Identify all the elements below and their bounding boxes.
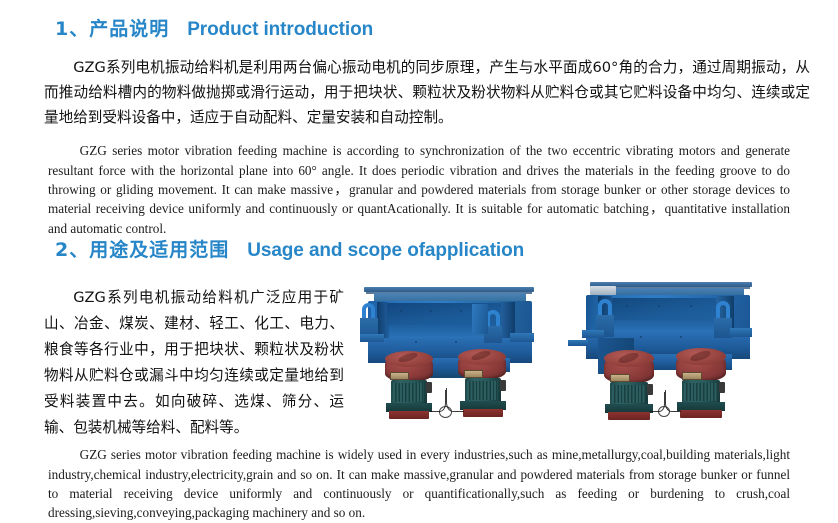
usage-and-scope-body-chinese: GZG系列电机振动给料机广泛应用于矿山、冶金、煤炭、建材、轻工、化工、电力、粮食…	[44, 285, 344, 441]
section-heading-en: Product introduction	[187, 19, 373, 41]
figure-gzg-vibration-feeder-front-view	[360, 270, 548, 428]
section-heading-en: Usage and scope ofapplication	[247, 240, 524, 262]
section-heading-usage-and-scope: 2、用途及适用范围 Usage and scope ofapplication	[55, 235, 524, 262]
document-page: 1、产品说明 Product introduction GZG系列电机振动给料机…	[0, 0, 838, 513]
product-introduction-body-english: GZG series motor vibration feeding machi…	[48, 141, 790, 238]
product-introduction-body-chinese: GZG系列电机振动给料机是利用两台偏心振动电机的同步原理，产生与水平面成60°角…	[44, 55, 810, 130]
usage-and-scope-body-english: GZG series motor vibration feeding machi…	[48, 445, 790, 523]
section-heading-cn: 1、产品说明	[55, 14, 169, 41]
machine-illustration	[360, 270, 548, 428]
machine-illustration	[568, 268, 768, 430]
figure-gzg-vibration-feeder-angled-view	[568, 268, 768, 430]
section-heading-cn: 2、用途及适用范围	[55, 235, 229, 262]
section-heading-product-introduction: 1、产品说明 Product introduction	[55, 14, 373, 41]
